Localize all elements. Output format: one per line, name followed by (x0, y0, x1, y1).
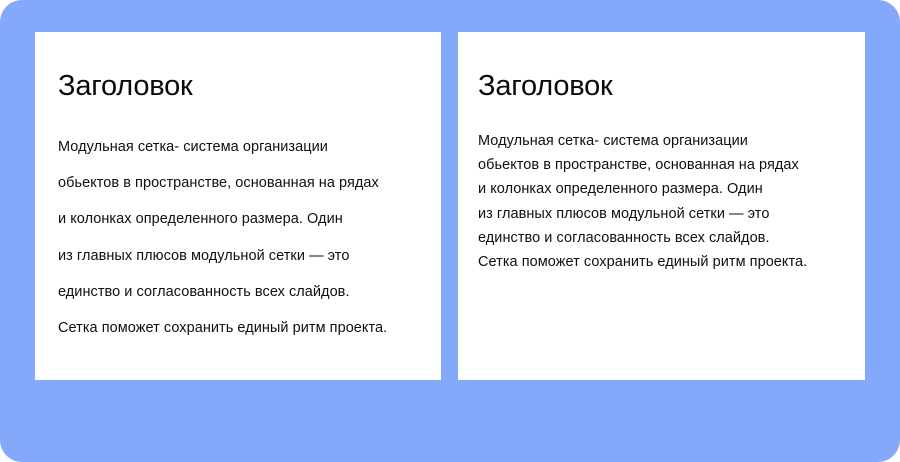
card-left-body-line: единство и согласованность всех слайдов. (58, 274, 430, 310)
card-left-body-line: из главных плюсов модульной сетки — это (58, 238, 430, 274)
slide-canvas: Заголовок Модульная сетка- система орган… (0, 0, 900, 462)
card-right-body: Модульная сетка- система организации обь… (478, 129, 850, 274)
card-left-body-line: Сетка поможет сохранить единый ритм прое… (58, 310, 430, 346)
card-right-body-line: единство и согласованность всех слайдов. (478, 226, 850, 250)
text-card-left: Заголовок Модульная сетка- система орган… (35, 32, 441, 380)
card-right-body-line: Модульная сетка- система организации (478, 129, 850, 153)
text-card-right: Заголовок Модульная сетка- система орган… (458, 32, 865, 380)
card-right-body-line: из главных плюсов модульной сетки — это (478, 202, 850, 226)
card-left-body-line: Модульная сетка- система организации (58, 129, 430, 165)
card-left-body-line: обьектов в пространстве, основанная на р… (58, 165, 430, 201)
card-left-heading: Заголовок (58, 72, 193, 101)
card-left-body: Модульная сетка- система организации обь… (58, 129, 430, 346)
card-right-heading: Заголовок (478, 72, 613, 101)
card-left-body-line: и колонках определенного размера. Один (58, 201, 430, 237)
card-right-body-line: Сетка поможет сохранить единый ритм прое… (478, 250, 850, 274)
card-right-body-line: обьектов в пространстве, основанная на р… (478, 153, 850, 177)
cards-container: Заголовок Модульная сетка- система орган… (0, 0, 900, 462)
card-right-body-line: и колонках определенного размера. Один (478, 177, 850, 201)
